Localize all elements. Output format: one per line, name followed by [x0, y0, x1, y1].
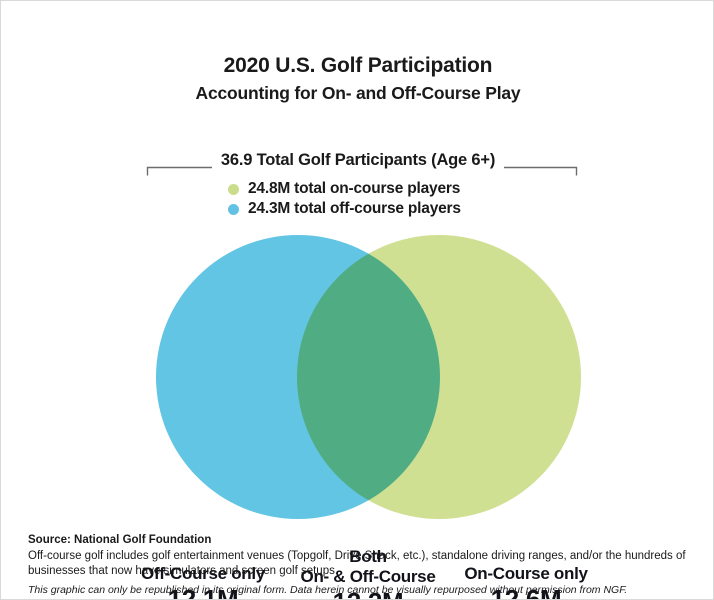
- total-participants-text: 36.9 Total Golf Participants (Age 6+): [212, 151, 504, 169]
- footer-source: Source: National Golf Foundation: [28, 533, 688, 548]
- legend-label-off-course: 24.3M total off-course players: [248, 200, 461, 218]
- title-block: 2020 U.S. Golf Participation Accounting …: [1, 53, 714, 105]
- legend-item-on-course: 24.8M total on-course players: [228, 179, 488, 199]
- page-title: 2020 U.S. Golf Participation: [1, 53, 714, 79]
- legend-item-off-course: 24.3M total off-course players: [228, 199, 488, 219]
- venn-svg: [1, 223, 714, 528]
- page-subtitle: Accounting for On- and Off-Course Play: [1, 81, 714, 105]
- venn-circle-on-course: [297, 235, 581, 519]
- legend-dot-off-course-icon: [228, 204, 239, 215]
- legend-label-on-course: 24.8M total on-course players: [248, 180, 460, 198]
- total-participants-label: 36.9 Total Golf Participants (Age 6+): [1, 151, 714, 170]
- legend-dot-on-course-icon: [228, 184, 239, 195]
- footer-legal: This graphic can only be republished in …: [28, 583, 688, 598]
- footer-note: Off-course golf includes golf entertainm…: [28, 549, 688, 579]
- footer: Source: National Golf Foundation Off-cou…: [28, 533, 688, 598]
- infographic-canvas: 2020 U.S. Golf Participation Accounting …: [0, 0, 714, 600]
- legend: 24.8M total on-course players 24.3M tota…: [1, 179, 714, 219]
- venn-diagram: Off-Course only 12.1M Both On- & Off-Cou…: [1, 223, 714, 528]
